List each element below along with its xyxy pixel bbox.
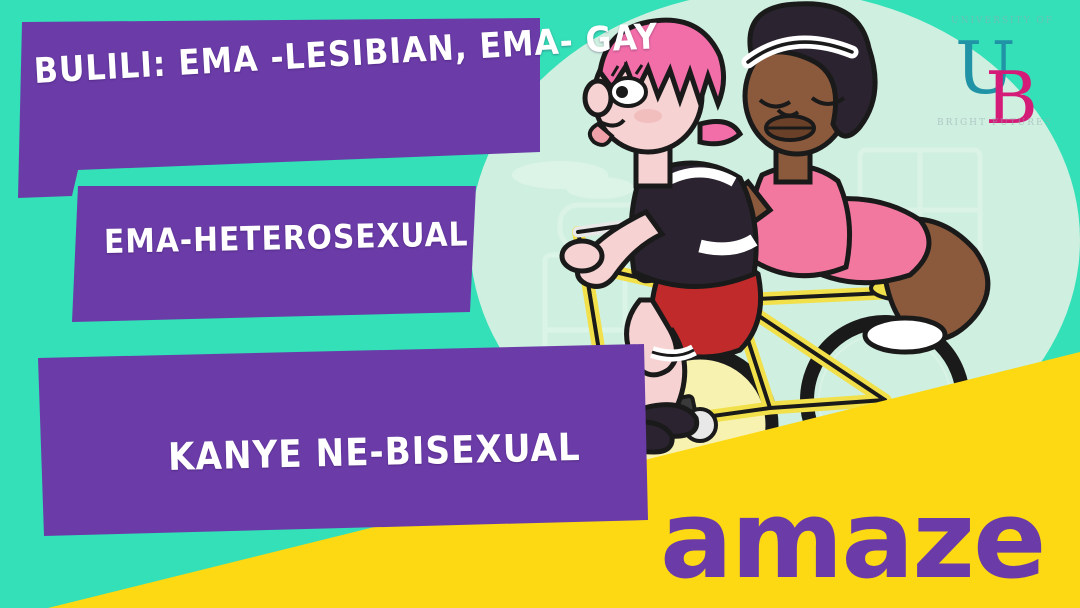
illustration-layer — [0, 0, 1080, 608]
front-rider-ponytail — [700, 122, 740, 144]
video-frame: BULILI: EMA -LESIBIAN, EMA- GAY EMA-HETE… — [0, 0, 1080, 608]
front-rider-hand — [562, 241, 602, 271]
front-rider-ear — [585, 81, 611, 115]
caption-banner-3 — [38, 344, 648, 536]
back-rider-shoe — [865, 318, 945, 352]
caption-banner-2 — [72, 186, 476, 322]
